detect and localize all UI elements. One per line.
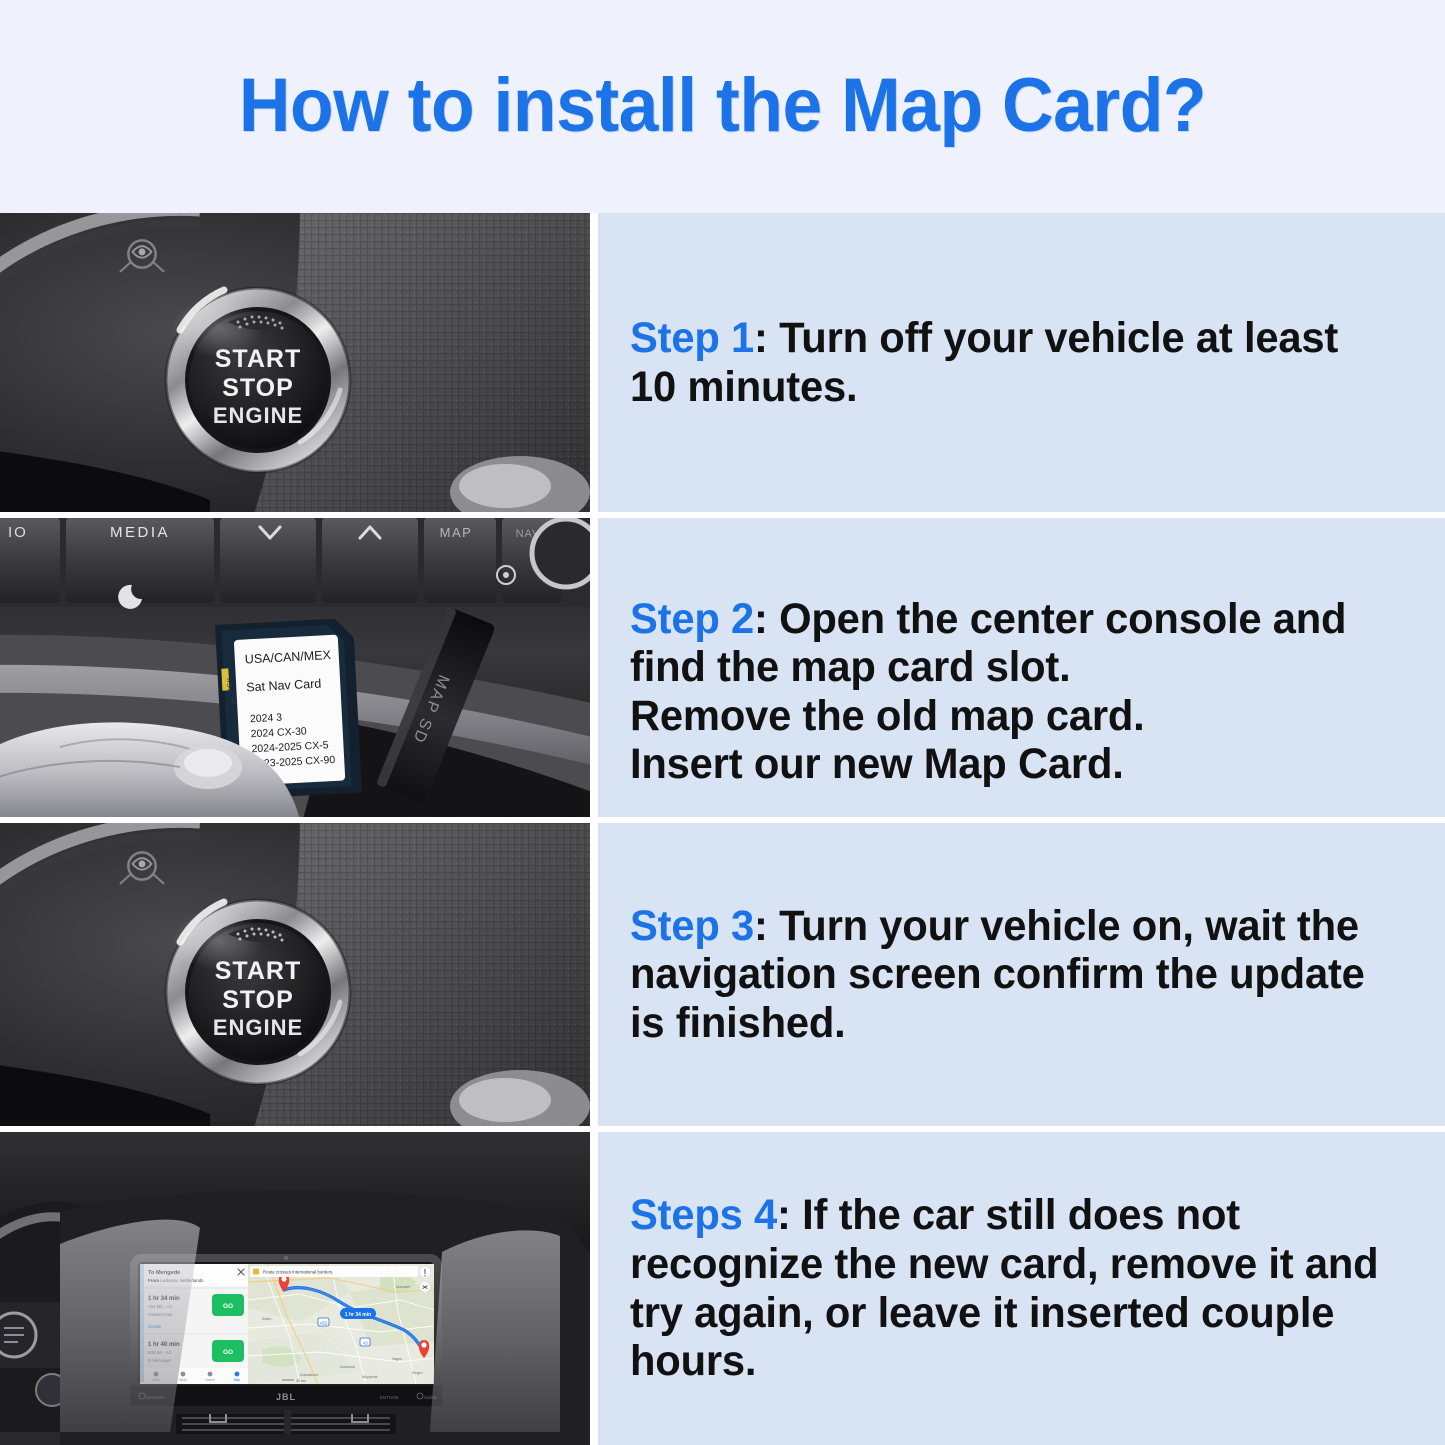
svg-text:LOCK: LOCK xyxy=(227,677,235,698)
step-row: To Mengede From Lucknow, Netherlands 1 h… xyxy=(0,1132,1445,1445)
step-row: START STOP ENGINE Step 3: Turn your vehi… xyxy=(0,823,1445,1132)
svg-text:2024 3: 2024 3 xyxy=(250,712,283,726)
svg-text:1 hr 34 min: 1 hr 34 min xyxy=(345,1312,371,1318)
svg-text:STOP: STOP xyxy=(222,986,294,1014)
svg-text:Duesseldorf: Duesseldorf xyxy=(300,1373,318,1377)
step-label: Step 3 xyxy=(630,902,754,950)
svg-text:Route crosses international bo: Route crosses international borders. xyxy=(263,1270,334,1275)
svg-text:Dortmund: Dortmund xyxy=(340,1365,355,1369)
map-card-slot-illustration: IO MEDIA MAP NAV xyxy=(0,518,590,817)
step-text-cell: Step 1: Turn off your vehicle at least 1… xyxy=(598,213,1445,512)
step-label: Steps 4 xyxy=(630,1191,777,1239)
svg-text:Work: Work xyxy=(179,1378,187,1382)
step-separator: : xyxy=(777,1191,802,1239)
step-text-cell: Steps 4: If the car still does not recog… xyxy=(598,1132,1445,1445)
svg-text:30 km: 30 km xyxy=(296,1379,306,1383)
step-label: Step 2 xyxy=(630,595,754,643)
svg-text:ENGINE: ENGINE xyxy=(213,403,303,428)
start-stop-button-illustration: START STOP ENGINE xyxy=(0,213,590,512)
step-text: Steps 4: If the car still does not recog… xyxy=(630,1191,1382,1385)
svg-text:Muenster: Muenster xyxy=(396,1285,411,1289)
page-title: How to install the Map Card? xyxy=(43,62,1401,149)
svg-text:MEDIA: MEDIA xyxy=(110,524,170,541)
svg-text:Siegen: Siegen xyxy=(412,1371,423,1375)
step-separator: : xyxy=(754,595,779,643)
svg-text:ENGINE: ENGINE xyxy=(213,1015,303,1040)
infographic-page: How to install the Map Card? xyxy=(0,0,1445,1445)
map-card-slot-photo: IO MEDIA MAP NAV xyxy=(0,518,590,817)
svg-text:Map: Map xyxy=(234,1378,240,1382)
step-row: START STOP ENGINE Step 1: Turn off your … xyxy=(0,213,1445,518)
step-label: Step 1 xyxy=(630,314,754,362)
svg-text:ENTUNE: ENTUNE xyxy=(380,1395,399,1400)
svg-text:IO: IO xyxy=(8,524,28,541)
svg-text:Wuppertal: Wuppertal xyxy=(362,1375,378,1379)
step-separator: : xyxy=(754,314,779,362)
engine-start-stop-button-photo: START STOP ENGINE xyxy=(0,823,590,1126)
step-text-cell: Step 2: Open the center console and find… xyxy=(598,518,1445,817)
svg-text:Hagen: Hagen xyxy=(392,1357,402,1361)
svg-text:START: START xyxy=(215,957,301,985)
svg-text:JBL: JBL xyxy=(276,1392,296,1402)
svg-text:Saved: Saved xyxy=(205,1378,214,1382)
step-text: Step 3: Turn your vehicle on, wait the n… xyxy=(630,902,1382,1048)
engine-start-stop-button-photo: START STOP ENGINE xyxy=(0,213,590,512)
svg-text:A3: A3 xyxy=(362,1340,368,1345)
step-text: Step 2: Open the center console and find… xyxy=(630,546,1382,789)
svg-text:GO: GO xyxy=(223,1349,233,1356)
step-separator: : xyxy=(754,902,779,950)
svg-text:START: START xyxy=(215,345,301,373)
step-text: Step 1: Turn off your vehicle at least 1… xyxy=(630,314,1382,411)
svg-text:Essen: Essen xyxy=(262,1317,272,1321)
svg-text:MAP: MAP xyxy=(440,525,473,540)
svg-text:STOP: STOP xyxy=(222,374,294,402)
steps-list: START STOP ENGINE Step 1: Turn off your … xyxy=(0,213,1445,1445)
navigation-screen-illustration: To Mengede From Lucknow, Netherlands 1 h… xyxy=(0,1132,590,1445)
svg-text:A52: A52 xyxy=(320,1320,328,1325)
step-text-cell: Step 3: Turn your vehicle on, wait the n… xyxy=(598,823,1445,1126)
svg-text:GO: GO xyxy=(223,1303,233,1310)
step-row: IO MEDIA MAP NAV xyxy=(0,518,1445,823)
start-stop-button-illustration: START STOP ENGINE xyxy=(0,823,590,1126)
navigation-screen-photo: To Mengede From Lucknow, Netherlands 1 h… xyxy=(0,1132,590,1445)
